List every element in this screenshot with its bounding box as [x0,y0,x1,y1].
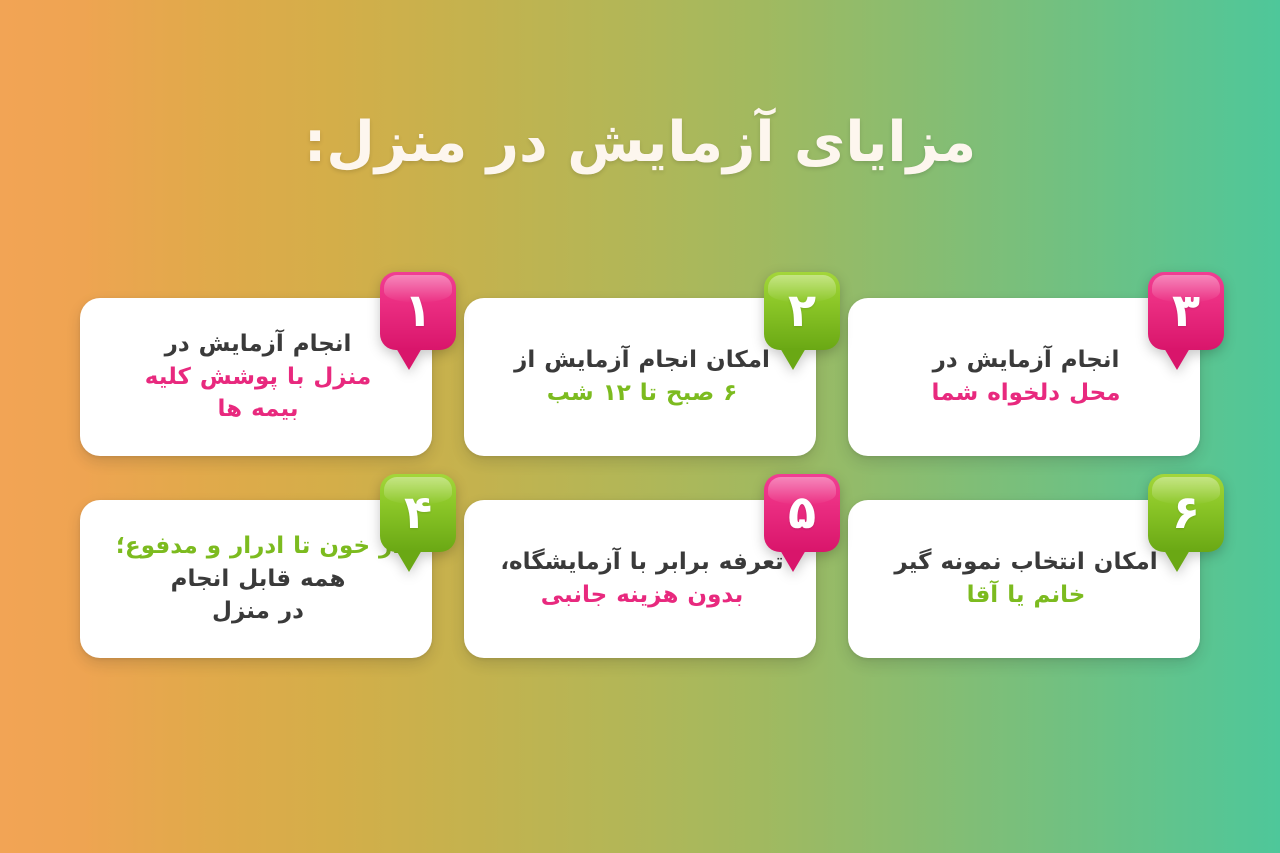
benefit-number-badge: ۱ [380,272,456,350]
benefit-line-1: از خون تا ادرار و مدفوع؛ [114,530,402,563]
benefit-card[interactable]: ۴ از خون تا ادرار و مدفوع؛ همه قابل انجا… [80,500,432,658]
benefit-line-3: بیمه ها [114,393,402,426]
benefit-line-2: همه قابل انجام [114,563,402,596]
benefit-line-1: انجام آزمایش در [882,344,1170,377]
benefit-line-2: ۶ صبح تا ۱۲ شب [498,377,786,410]
benefit-number: ۴ [404,489,432,535]
benefit-text: امکان انتخاب نمونه گیر خانم یا آقا [878,546,1170,611]
speech-bubble-tail-icon [780,348,806,370]
benefit-line-3: در منزل [114,595,402,628]
benefit-card[interactable]: ۱ انجام آزمایش در منزل با پوشش کلیه بیمه… [80,298,432,456]
speech-bubble-tail-icon [396,348,422,370]
benefit-line-2: بدون هزینه جانبی [498,579,786,612]
speech-bubble-tail-icon [396,550,422,572]
benefit-line-1: تعرفه برابر با آزمایشگاه، [498,546,786,579]
benefit-line-2: منزل با پوشش کلیه [114,361,402,394]
benefit-line-1: امکان انجام آزمایش از [498,344,786,377]
benefits-grid: ۳ انجام آزمایش در محل دلخواه شما ۲ امکان… [80,298,1200,658]
benefit-number: ۳ [1172,287,1200,333]
page-title-container: مزایای آزمایش در منزل: [0,112,1280,174]
benefit-number-badge: ۶ [1148,474,1224,552]
benefit-card[interactable]: ۵ تعرفه برابر با آزمایشگاه، بدون هزینه ج… [464,500,816,658]
benefit-number-badge: ۲ [764,272,840,350]
speech-bubble-tail-icon [1164,550,1190,572]
benefit-line-2: خانم یا آقا [882,579,1170,612]
speech-bubble-tail-icon [1164,348,1190,370]
benefit-number: ۱ [404,287,432,333]
benefit-text: انجام آزمایش در منزل با پوشش کلیه بیمه ه… [110,328,402,426]
benefit-line-1: انجام آزمایش در [114,328,402,361]
benefit-text: انجام آزمایش در محل دلخواه شما [878,344,1170,409]
speech-bubble-tail-icon [780,550,806,572]
benefit-number-badge: ۴ [380,474,456,552]
benefit-text: امکان انجام آزمایش از ۶ صبح تا ۱۲ شب [494,344,786,409]
benefit-line-2: محل دلخواه شما [882,377,1170,410]
benefit-card[interactable]: ۶ امکان انتخاب نمونه گیر خانم یا آقا [848,500,1200,658]
benefit-line-1: امکان انتخاب نمونه گیر [882,546,1170,579]
benefit-number: ۲ [788,287,816,333]
benefit-text: تعرفه برابر با آزمایشگاه، بدون هزینه جان… [494,546,786,611]
benefit-number: ۵ [788,489,816,535]
benefit-number-badge: ۳ [1148,272,1224,350]
benefit-number-badge: ۵ [764,474,840,552]
benefit-card[interactable]: ۲ امکان انجام آزمایش از ۶ صبح تا ۱۲ شب [464,298,816,456]
benefit-card[interactable]: ۳ انجام آزمایش در محل دلخواه شما [848,298,1200,456]
benefit-text: از خون تا ادرار و مدفوع؛ همه قابل انجام … [110,530,402,628]
benefit-number: ۶ [1172,489,1200,535]
page-title: مزایای آزمایش در منزل: [304,112,976,174]
